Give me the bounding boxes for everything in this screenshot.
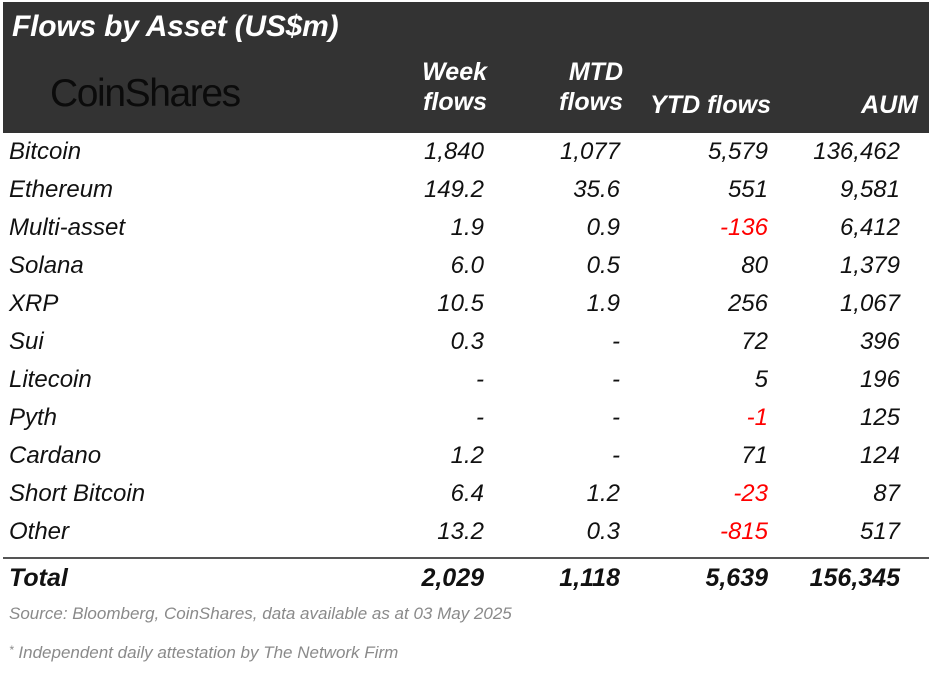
row-aum: 87 bbox=[768, 480, 916, 508]
row-mtd-flows: - bbox=[484, 442, 620, 470]
row-asset-label: Ethereum bbox=[0, 176, 300, 204]
row-week-flows: 1.9 bbox=[300, 214, 484, 242]
column-header-week-flows-line1: Week bbox=[283, 57, 487, 87]
row-mtd-flows: 1.2 bbox=[484, 480, 620, 508]
table-header-band: Flows by Asset (US$m) CoinShares Week fl… bbox=[3, 2, 929, 133]
column-header-week-flows: Week flows bbox=[283, 57, 487, 117]
row-aum: 125 bbox=[768, 404, 916, 432]
row-aum: 1,067 bbox=[768, 290, 916, 318]
total-week-flows: 2,029 bbox=[300, 564, 484, 593]
flows-by-asset-table-card: Flows by Asset (US$m) CoinShares Week fl… bbox=[0, 0, 932, 675]
row-asset-label: XRP bbox=[0, 290, 300, 318]
row-week-flows: 6.4 bbox=[300, 480, 484, 508]
row-week-flows: 1,840 bbox=[300, 138, 484, 166]
table-row: Bitcoin1,8401,0775,579136,462 bbox=[0, 133, 932, 171]
column-header-ytd-flows-label: YTD flows bbox=[623, 90, 771, 120]
row-mtd-flows: 0.9 bbox=[484, 214, 620, 242]
row-ytd-flows: 5,579 bbox=[620, 138, 768, 166]
row-mtd-flows: - bbox=[484, 404, 620, 432]
table-row: Cardano1.2-71124 bbox=[0, 437, 932, 475]
row-aum: 6,412 bbox=[768, 214, 916, 242]
total-label: Total bbox=[0, 564, 300, 593]
row-aum: 124 bbox=[768, 442, 916, 470]
column-header-week-flows-line2: flows bbox=[283, 87, 487, 117]
row-ytd-flows: 71 bbox=[620, 442, 768, 470]
row-asset-label: Short Bitcoin bbox=[0, 480, 300, 508]
total-mtd-flows: 1,118 bbox=[484, 564, 620, 593]
row-week-flows: - bbox=[300, 366, 484, 394]
row-asset-label: Pyth bbox=[0, 404, 300, 432]
row-week-flows: 6.0 bbox=[300, 252, 484, 280]
table-row: Sui0.3-72396 bbox=[0, 323, 932, 361]
row-asset-label: Solana bbox=[0, 252, 300, 280]
table-row: Ethereum149.235.65519,581 bbox=[0, 171, 932, 209]
row-ytd-flows: 80 bbox=[620, 252, 768, 280]
column-header-mtd-flows: MTD flows bbox=[503, 57, 623, 117]
row-mtd-flows: 1,077 bbox=[484, 138, 620, 166]
row-week-flows: 13.2 bbox=[300, 518, 484, 546]
table-row: Solana6.00.5801,379 bbox=[0, 247, 932, 285]
row-aum: 517 bbox=[768, 518, 916, 546]
row-aum: 396 bbox=[768, 328, 916, 356]
row-asset-label: Cardano bbox=[0, 442, 300, 470]
source-footnote: Source: Bloomberg, CoinShares, data avai… bbox=[9, 604, 512, 624]
row-week-flows: 10.5 bbox=[300, 290, 484, 318]
row-ytd-flows: -136 bbox=[620, 214, 768, 242]
row-asset-label: Other bbox=[0, 518, 300, 546]
row-aum: 136,462 bbox=[768, 138, 916, 166]
row-aum: 196 bbox=[768, 366, 916, 394]
row-ytd-flows: -23 bbox=[620, 480, 768, 508]
column-header-mtd-flows-line1: MTD bbox=[503, 57, 623, 87]
row-mtd-flows: 35.6 bbox=[484, 176, 620, 204]
row-ytd-flows: 72 bbox=[620, 328, 768, 356]
row-ytd-flows: 256 bbox=[620, 290, 768, 318]
row-asset-label: Multi-asset bbox=[0, 214, 300, 242]
table-body: Bitcoin1,8401,0775,579136,462Ethereum149… bbox=[0, 133, 932, 551]
column-header-aum-label: AUM bbox=[763, 90, 918, 120]
row-mtd-flows: 1.9 bbox=[484, 290, 620, 318]
row-aum: 1,379 bbox=[768, 252, 916, 280]
attestation-footnote: * Independent daily attestation by The N… bbox=[9, 643, 398, 663]
table-row: Other13.20.3-815517 bbox=[0, 513, 932, 551]
page-title: Flows by Asset (US$m) bbox=[12, 10, 338, 44]
total-separator bbox=[3, 557, 929, 559]
row-mtd-flows: 0.5 bbox=[484, 252, 620, 280]
row-ytd-flows: 551 bbox=[620, 176, 768, 204]
row-asset-label: Bitcoin bbox=[0, 138, 300, 166]
table-row: Multi-asset1.90.9-1366,412 bbox=[0, 209, 932, 247]
row-mtd-flows: 0.3 bbox=[484, 518, 620, 546]
row-week-flows: 0.3 bbox=[300, 328, 484, 356]
table-row: XRP10.51.92561,067 bbox=[0, 285, 932, 323]
row-ytd-flows: -815 bbox=[620, 518, 768, 546]
column-header-ytd-flows: YTD flows bbox=[623, 90, 771, 120]
table-row: Short Bitcoin6.41.2-2387 bbox=[0, 475, 932, 513]
row-mtd-flows: - bbox=[484, 328, 620, 356]
row-asset-label: Sui bbox=[0, 328, 300, 356]
table-total-row: Total 2,029 1,118 5,639 156,345 bbox=[0, 560, 932, 596]
row-week-flows: 1.2 bbox=[300, 442, 484, 470]
total-aum: 156,345 bbox=[768, 564, 916, 593]
attestation-asterisk: * bbox=[9, 643, 14, 657]
row-ytd-flows: 5 bbox=[620, 366, 768, 394]
row-ytd-flows: -1 bbox=[620, 404, 768, 432]
row-week-flows: 149.2 bbox=[300, 176, 484, 204]
table-row: Pyth---1125 bbox=[0, 399, 932, 437]
attestation-text: Independent daily attestation by The Net… bbox=[18, 643, 398, 662]
row-mtd-flows: - bbox=[484, 366, 620, 394]
coinshares-logo: CoinShares bbox=[50, 74, 240, 113]
table-row: Litecoin--5196 bbox=[0, 361, 932, 399]
row-aum: 9,581 bbox=[768, 176, 916, 204]
column-header-mtd-flows-line2: flows bbox=[503, 87, 623, 117]
row-asset-label: Litecoin bbox=[0, 366, 300, 394]
column-header-aum: AUM bbox=[763, 90, 918, 120]
row-week-flows: - bbox=[300, 404, 484, 432]
total-ytd-flows: 5,639 bbox=[620, 564, 768, 593]
